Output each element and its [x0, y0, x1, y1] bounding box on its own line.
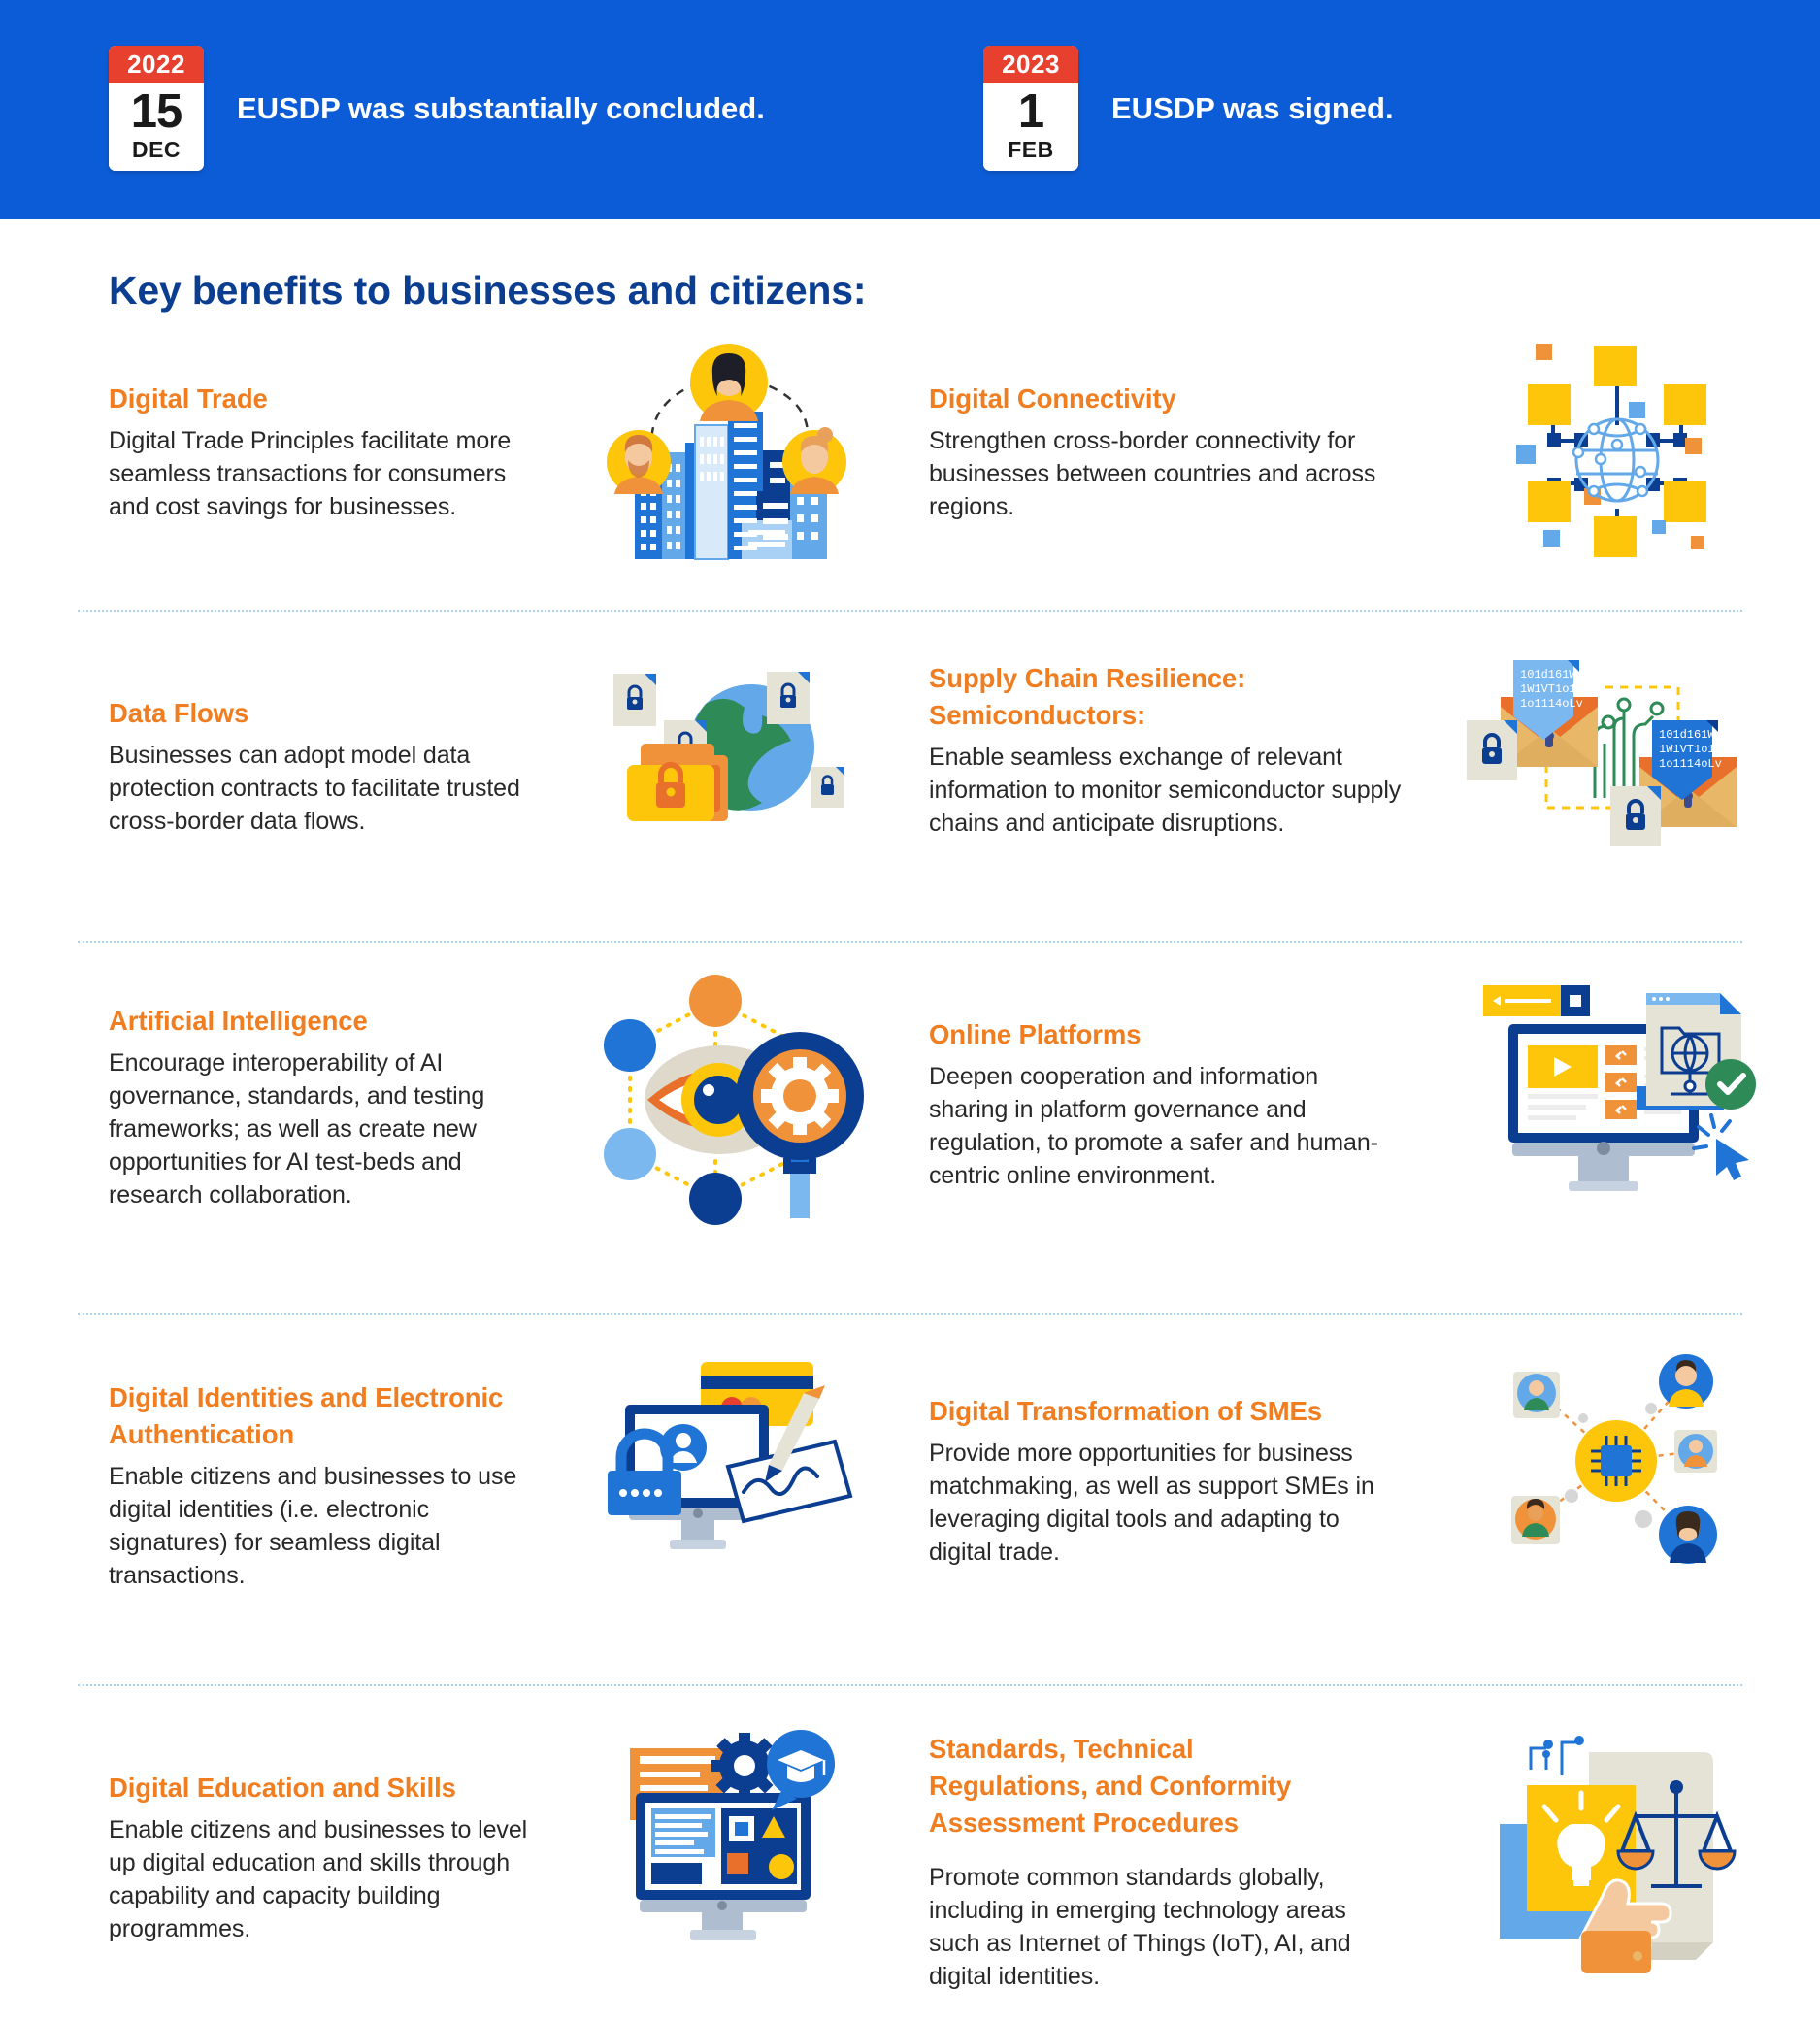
locked-document [1610, 786, 1661, 846]
calendar-year: 2022 [109, 46, 204, 83]
benefit-title: Digital Identities and Electronic Authen… [109, 1379, 516, 1453]
benefit-title: Digital Trade [109, 381, 532, 417]
calendar-month: FEB [983, 137, 1078, 162]
calendar-icon: 2022 15 DEC [109, 46, 204, 171]
benefit-card-digital-education: Digital Education and Skills Enable citi… [0, 1731, 910, 2022]
scales-document-hand-bulb-illustration [1414, 1731, 1819, 1973]
benefits-row: Digital Education and Skills Enable citi… [0, 1731, 1820, 2022]
avatar [1511, 1496, 1560, 1544]
benefit-card-standards: Standards, Technical Regulations, and Co… [910, 1731, 1819, 2022]
timeline-event-2: 2023 1 FEB EUSDP was signed. [983, 46, 1394, 171]
avatar [782, 427, 846, 494]
avatar [1659, 1506, 1717, 1564]
benefit-body: Digital Trade Principles facilitate more… [109, 424, 532, 523]
benefit-card-sme-transformation: Digital Transformation of SMEs Provide m… [910, 1354, 1819, 1645]
benefit-body: Strengthen cross-border connectivity for… [929, 424, 1403, 523]
benefit-title: Digital Transformation of SMEs [929, 1393, 1403, 1430]
header-banner: 2022 15 DEC EUSDP was substantially conc… [0, 0, 1820, 219]
benefit-title: Digital Education and Skills [109, 1770, 532, 1807]
avatar [607, 430, 671, 494]
benefit-card-artificial-intelligence: Artificial Intelligence Encourage intero… [0, 981, 910, 1273]
svg-text:101d161W: 101d161W [1659, 728, 1715, 742]
avatar [1659, 1354, 1713, 1409]
timeline-event-label: EUSDP was substantially concluded. [237, 91, 765, 126]
locked-document [1467, 720, 1517, 780]
benefits-row: Data Flows Businesses can adopt model da… [0, 650, 1820, 898]
globe-locked-documents-folder-illustration [544, 650, 910, 854]
calendar-day: 1 [983, 86, 1078, 137]
svg-text:1W1VT1o1: 1W1VT1o1 [1520, 682, 1576, 696]
benefit-card-supply-chain: Supply Chain Resilience: Semiconductors:… [910, 650, 1819, 898]
benefit-body: Businesses can adopt model data protecti… [109, 739, 532, 838]
svg-text:1W1VT1o1: 1W1VT1o1 [1659, 743, 1715, 756]
locked-document [811, 767, 844, 808]
benefit-body: Enable citizens and businesses to use di… [109, 1460, 532, 1592]
chip-people-network-illustration [1414, 1354, 1819, 1577]
benefit-title: Supply Chain Resilience: Semiconductors: [929, 660, 1337, 734]
locked-document [767, 672, 810, 724]
benefits-grid: Digital Trade Digital Trade Principles f… [0, 336, 1820, 2022]
benefit-title: Digital Connectivity [929, 381, 1403, 417]
avatar [1674, 1430, 1717, 1473]
timeline-event-1: 2022 15 DEC EUSDP was substantially conc… [109, 46, 765, 171]
benefit-body: Promote common standards globally, inclu… [929, 1861, 1403, 1993]
section-divider [78, 610, 1742, 612]
magnifier-gear [736, 1032, 864, 1218]
benefit-card-digital-trade: Digital Trade Digital Trade Principles f… [0, 336, 910, 579]
benefit-card-digital-identities: Digital Identities and Electronic Authen… [0, 1354, 910, 1645]
calendar-body: 15 DEC [109, 83, 204, 171]
calendar-icon: 2023 1 FEB [983, 46, 1078, 171]
svg-text:1o1114oLv: 1o1114oLv [1520, 697, 1583, 711]
benefit-card-digital-connectivity: Digital Connectivity Strengthen cross-bo… [910, 336, 1819, 579]
calendar-day: 15 [109, 86, 204, 137]
benefit-body: Encourage interoperability of AI governa… [109, 1046, 532, 1211]
benefit-title: Standards, Technical Regulations, and Co… [929, 1731, 1356, 1841]
desktop-media-links-cursor-illustration [1414, 981, 1819, 1205]
benefit-body: Enable seamless exchange of relevant inf… [929, 741, 1403, 840]
globe-network-nodes-illustration [1414, 336, 1819, 559]
benefits-row: Digital Identities and Electronic Authen… [0, 1354, 1820, 1645]
benefits-row: Artificial Intelligence Encourage intero… [0, 981, 1820, 1273]
calendar-body: 1 FEB [983, 83, 1078, 171]
benefit-body: Provide more opportunities for business … [929, 1437, 1403, 1569]
svg-text:1o1114oLv: 1o1114oLv [1659, 757, 1722, 771]
city-skyline-people-network-illustration [544, 336, 910, 569]
avatar [690, 344, 768, 421]
benefit-title: Artificial Intelligence [109, 1003, 532, 1040]
monitor-graduation-gear-illustration [544, 1731, 910, 1944]
svg-text:101d161W: 101d161W [1520, 668, 1576, 681]
eye-magnifier-gear-network-illustration [544, 981, 910, 1234]
page-title: Key benefits to businesses and citizens: [109, 268, 866, 314]
benefit-body: Deepen cooperation and information shari… [929, 1060, 1403, 1192]
encrypted-envelopes-circuit-illustration: 101d161W 1W1VT1o1 1o1114oLv [1414, 650, 1819, 845]
benefit-title: Online Platforms [929, 1016, 1403, 1053]
click-cursor-icon [1694, 1115, 1749, 1180]
avatar [1513, 1372, 1560, 1418]
monitor-padlock-signature-card-illustration [544, 1354, 910, 1558]
benefit-card-online-platforms: Online Platforms Deepen cooperation and … [910, 981, 1819, 1273]
calendar-year: 2023 [983, 46, 1078, 83]
benefit-title: Data Flows [109, 695, 532, 732]
timeline-event-label: EUSDP was signed. [1111, 91, 1394, 126]
benefit-body: Enable citizens and businesses to level … [109, 1813, 532, 1945]
calendar-month: DEC [109, 137, 204, 162]
locked-document [613, 674, 656, 726]
section-divider [78, 1684, 1742, 1686]
benefits-row: Digital Trade Digital Trade Principles f… [0, 336, 1820, 579]
section-divider [78, 941, 1742, 943]
section-divider [78, 1313, 1742, 1315]
benefit-card-data-flows: Data Flows Businesses can adopt model da… [0, 650, 910, 898]
